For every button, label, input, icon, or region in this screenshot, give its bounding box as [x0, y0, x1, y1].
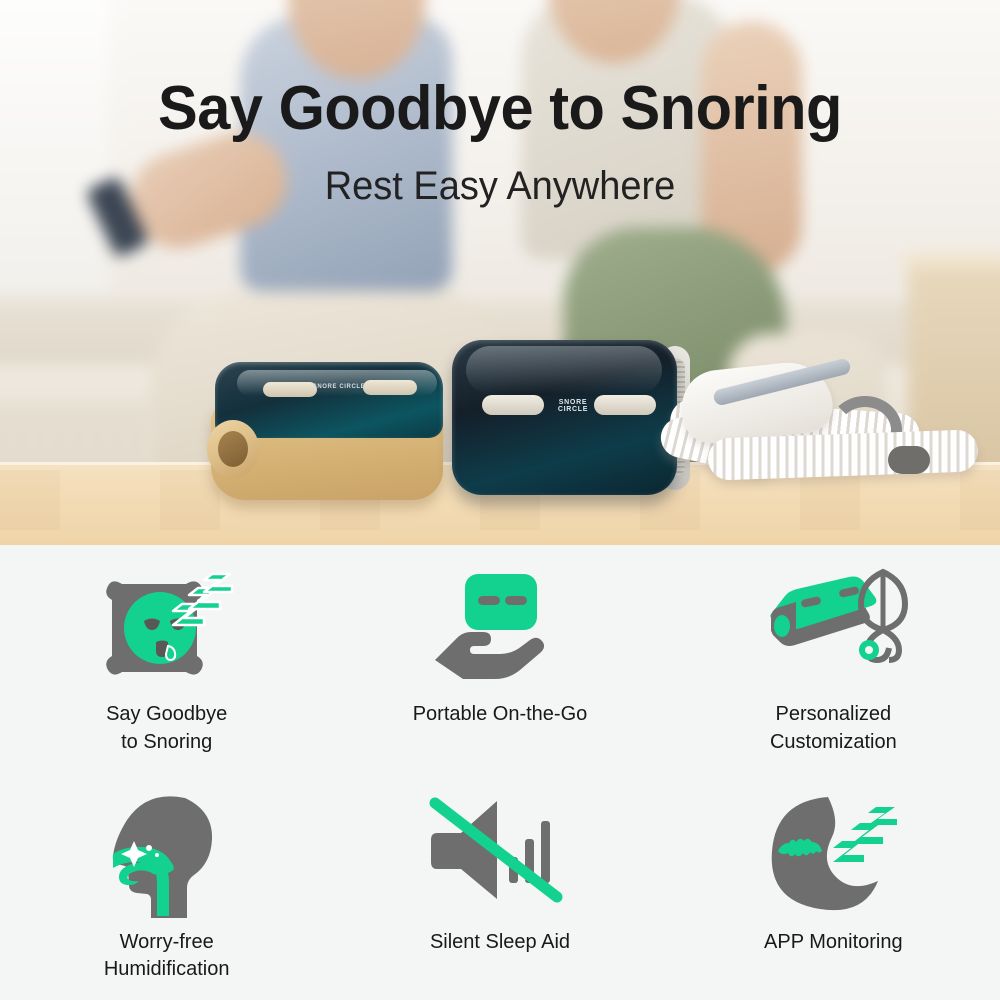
feature-caption-line-1: Say Goodbye	[106, 701, 227, 729]
product-listing-page: SNORE CIRCLE SNORE CIRCLE	[0, 0, 1000, 1000]
feature-caption: Say Goodbye to Snoring	[106, 701, 227, 756]
device-left-brand-label: SNORE CIRCLE	[309, 384, 369, 390]
feature-item-personalized-customization: Personalized Customization	[667, 545, 1000, 773]
feature-item-worry-free-humidification: Worry-free Humidification	[0, 773, 333, 1000]
feature-item-portable-on-the-go: Portable On-the-Go	[333, 545, 666, 773]
feature-caption-line-2: to Snoring	[106, 729, 227, 757]
page-title: Say Goodbye to Snoring	[20, 0, 980, 140]
feature-caption-line-2: Customization	[770, 729, 897, 757]
feature-caption: Silent Sleep Aid	[430, 929, 570, 957]
feature-caption-line-1: Portable On-the-Go	[413, 701, 588, 729]
feature-caption-line-1: APP Monitoring	[764, 929, 903, 957]
crescent-moon-sleeping-zzz-icon	[758, 791, 908, 921]
feature-caption-line-2: Humidification	[104, 956, 230, 984]
feature-caption: Worry-free Humidification	[104, 929, 230, 984]
device-right-button-2	[594, 395, 656, 415]
product-devices: SNORE CIRCLE SNORE CIRCLE	[0, 330, 1000, 545]
device-with-mask-headgear-icon	[753, 563, 913, 693]
feature-grid-section: Say Goodbye to Snoring Portable On-the-G…	[0, 545, 1000, 1000]
feature-item-silent-sleep-aid: Silent Sleep Aid	[333, 773, 666, 1000]
device-right-button-1	[482, 395, 544, 415]
feature-grid: Say Goodbye to Snoring Portable On-the-G…	[0, 545, 1000, 1000]
device-left-button-2	[363, 380, 417, 395]
feature-caption: APP Monitoring	[764, 929, 903, 957]
feature-caption: Portable On-the-Go	[413, 701, 588, 729]
feature-caption-line-1: Silent Sleep Aid	[430, 929, 570, 957]
feature-item-say-goodbye-to-snoring: Say Goodbye to Snoring	[0, 545, 333, 773]
feature-caption-line-1: Worry-free	[104, 929, 230, 957]
cpap-hose-and-mask	[660, 360, 990, 500]
hero-text-block: Say Goodbye to Snoring Rest Easy Anywher…	[0, 0, 1000, 206]
dark-cpap-device: SNORE CIRCLE	[452, 340, 692, 505]
hero-banner: SNORE CIRCLE SNORE CIRCLE	[0, 0, 1000, 545]
feature-caption: Personalized Customization	[770, 701, 897, 756]
pillow-sleeping-face-zzz-icon	[92, 563, 242, 693]
muted-speaker-icon	[425, 791, 575, 921]
head-profile-airway-icon	[97, 791, 237, 921]
device-right-brand-label: SNORE CIRCLE	[544, 399, 602, 413]
hose-end-plug	[888, 446, 930, 474]
feature-item-app-monitoring: APP Monitoring	[667, 773, 1000, 1000]
feature-caption-line-1: Personalized	[770, 701, 897, 729]
device-left-air-outlet	[207, 420, 259, 478]
hand-holding-device-icon	[425, 563, 575, 693]
page-subtitle: Rest Easy Anywhere	[25, 140, 975, 206]
gold-cpap-device: SNORE CIRCLE	[205, 358, 450, 503]
